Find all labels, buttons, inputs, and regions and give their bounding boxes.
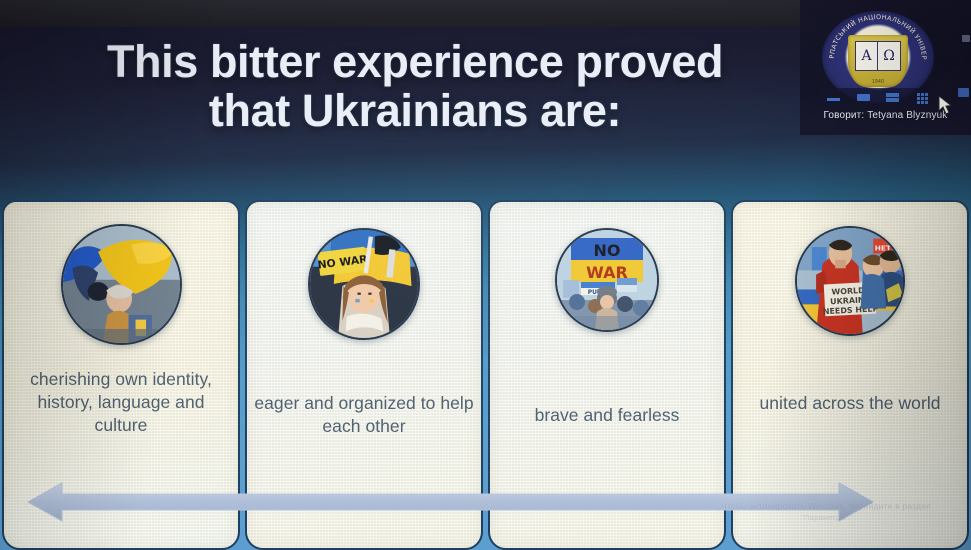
- card-united-across-world[interactable]: НЕТ WORLD, UKRAINE NEEDS HELP: [731, 200, 969, 550]
- slide-title-line-1: This bitter experience proved: [0, 37, 830, 86]
- card-strip: cherishing own identity, history, langua…: [2, 200, 969, 550]
- minimize-view-icon[interactable]: [826, 91, 841, 103]
- card-eager-organized[interactable]: NO WAR: [245, 200, 483, 550]
- watermark-line-1: Чтобы активировать Windows, перейдите в …: [721, 501, 931, 512]
- card-caption: cherishing own identity, history, langua…: [10, 368, 232, 436]
- card-brave-fearless[interactable]: NO WAR PUTIN: [488, 200, 726, 550]
- single-speaker-view-icon[interactable]: [856, 91, 871, 103]
- view-layout-icon-row: [822, 88, 934, 106]
- emblem-book-right-letter: Ω: [878, 42, 900, 70]
- photo-protesters-ukraine-needs-help: НЕТ WORLD, UKRAINE NEEDS HELP: [795, 226, 905, 336]
- panel-expand-icon[interactable]: [958, 88, 969, 97]
- slide-title-line-2: that Ukrainians are:: [0, 86, 830, 135]
- photo-protest-crowd-no-war-banner: NO WAR PUTIN: [555, 228, 659, 332]
- card-caption: brave and fearless: [496, 404, 718, 427]
- card-caption: united across the world: [739, 392, 961, 415]
- photo-girl-with-no-war-sign: NO WAR: [308, 228, 420, 340]
- watermark-line-2: "Параметры".: [721, 513, 931, 523]
- emblem-open-book: Α Ω: [855, 41, 901, 71]
- emblem-book-left-letter: Α: [856, 42, 878, 70]
- gallery-grid-view-icon[interactable]: [915, 91, 930, 103]
- photo-waving-ukrainian-flag: [61, 224, 182, 345]
- svg-text:NO: NO: [594, 241, 621, 260]
- slide-title: This bitter experience proved that Ukrai…: [0, 37, 830, 135]
- split-view-icon[interactable]: [885, 91, 900, 103]
- windows-activation-watermark: Чтобы активировать Windows, перейдите в …: [721, 501, 931, 523]
- card-caption: eager and organized to help each other: [253, 392, 475, 438]
- emblem-year: 1940: [848, 79, 908, 85]
- mouse-cursor: [938, 95, 952, 115]
- screen-capture: This bitter experience proved that Ukrai…: [0, 0, 971, 550]
- card-cherishing-identity[interactable]: cherishing own identity, history, langua…: [2, 200, 240, 550]
- emblem-shield: Α Ω 1940: [848, 35, 908, 87]
- panel-corner-icon: [962, 35, 970, 42]
